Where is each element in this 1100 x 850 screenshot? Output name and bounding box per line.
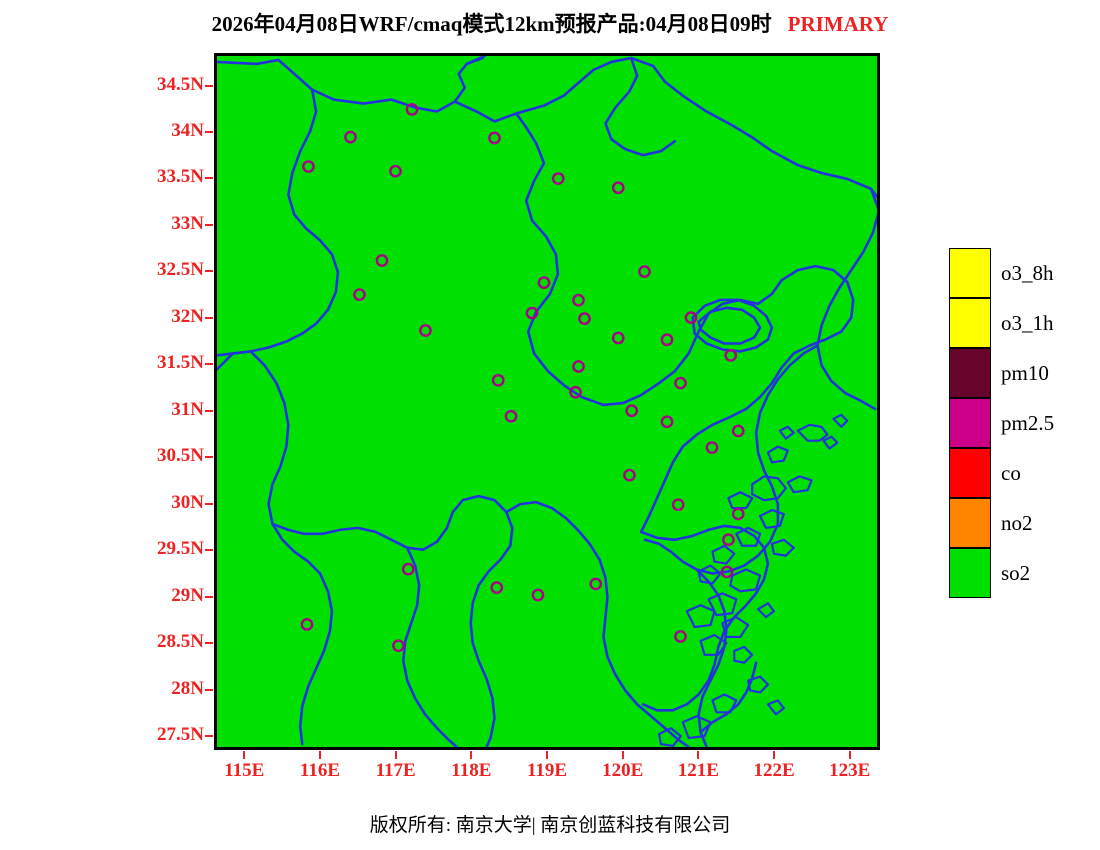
station-marker[interactable] xyxy=(579,313,589,323)
station-marker[interactable] xyxy=(733,509,743,519)
y-tick-mark xyxy=(205,456,213,458)
x-tick-mark xyxy=(243,751,245,759)
legend-label: o3_8h xyxy=(1001,263,1054,284)
title-main-text: 2026年04月08日WRF/cmaq模式12km预报产品:04月08日09时 xyxy=(212,12,772,36)
legend-item-pm10[interactable]: pm10 xyxy=(949,348,1054,398)
legend-label: no2 xyxy=(1001,513,1033,534)
forecast-map-page: 2026年04月08日WRF/cmaq模式12km预报产品:04月08日09时P… xyxy=(0,0,1100,850)
page-title: 2026年04月08日WRF/cmaq模式12km预报产品:04月08日09时P… xyxy=(0,8,1100,38)
legend-item-pm2-5[interactable]: pm2.5 xyxy=(949,398,1054,448)
x-tick-label: 122E xyxy=(734,760,814,782)
y-tick-mark xyxy=(205,131,213,133)
station-marker[interactable] xyxy=(403,564,413,574)
legend-label: co xyxy=(1001,463,1021,484)
x-tick-label: 117E xyxy=(356,760,436,782)
station-marker[interactable] xyxy=(675,378,685,388)
y-tick-label: 33.5N xyxy=(106,166,204,188)
y-tick-mark xyxy=(205,549,213,551)
legend-item-o3-1h[interactable]: o3_1h xyxy=(949,298,1054,348)
y-tick-mark xyxy=(205,410,213,412)
x-tick-mark xyxy=(546,751,548,759)
station-marker[interactable] xyxy=(345,132,355,142)
y-tick-mark xyxy=(205,503,213,505)
station-marker[interactable] xyxy=(613,333,623,343)
y-tick-label: 34.5N xyxy=(106,74,204,96)
legend-item-so2[interactable]: so2 xyxy=(949,548,1054,598)
station-marker[interactable] xyxy=(573,361,583,371)
y-tick-label: 32N xyxy=(106,306,204,328)
station-marker[interactable] xyxy=(662,417,672,427)
x-tick-label: 116E xyxy=(280,760,360,782)
legend-item-no2[interactable]: no2 xyxy=(949,498,1054,548)
station-marker[interactable] xyxy=(624,470,634,480)
y-tick-mark xyxy=(205,317,213,319)
x-tick-mark xyxy=(622,751,624,759)
station-marker[interactable] xyxy=(591,579,601,589)
legend-swatch xyxy=(949,348,991,398)
station-marker[interactable] xyxy=(673,500,683,510)
y-tick-mark xyxy=(205,85,213,87)
map-canvas xyxy=(217,56,877,747)
station-marker[interactable] xyxy=(723,535,733,545)
legend: o3_8ho3_1hpm10pm2.5cono2so2 xyxy=(949,248,1054,598)
station-marker[interactable] xyxy=(303,161,313,171)
legend-swatch xyxy=(949,448,991,498)
x-tick-label: 115E xyxy=(204,760,284,782)
legend-swatch xyxy=(949,498,991,548)
legend-label: o3_1h xyxy=(1001,313,1054,334)
map-plot-area[interactable] xyxy=(214,53,880,750)
y-tick-label: 27.5N xyxy=(106,724,204,746)
y-tick-label: 28.5N xyxy=(106,631,204,653)
x-tick-label: 118E xyxy=(431,760,511,782)
y-tick-label: 30.5N xyxy=(106,445,204,467)
x-tick-mark xyxy=(849,751,851,759)
y-tick-mark xyxy=(205,224,213,226)
station-marker[interactable] xyxy=(492,582,502,592)
legend-swatch xyxy=(949,398,991,448)
station-marker[interactable] xyxy=(627,406,637,416)
legend-label: so2 xyxy=(1001,563,1030,584)
province-boundaries xyxy=(217,56,877,747)
x-tick-label: 120E xyxy=(583,760,663,782)
x-tick-label: 121E xyxy=(658,760,738,782)
station-marker[interactable] xyxy=(390,166,400,176)
y-tick-label: 28N xyxy=(106,678,204,700)
x-tick-mark xyxy=(319,751,321,759)
legend-swatch xyxy=(949,548,991,598)
station-marker[interactable] xyxy=(686,312,696,322)
title-primary-tag: PRIMARY xyxy=(788,12,889,36)
legend-swatch xyxy=(949,298,991,348)
station-marker[interactable] xyxy=(302,619,312,629)
y-tick-label: 32.5N xyxy=(106,259,204,281)
x-tick-label: 123E xyxy=(810,760,890,782)
copyright-footer: 版权所有: 南京大学| 南京创蓝科技有限公司 xyxy=(0,810,1100,837)
station-marker[interactable] xyxy=(533,590,543,600)
station-marker-layer xyxy=(302,104,744,651)
y-tick-mark xyxy=(205,177,213,179)
station-marker[interactable] xyxy=(675,631,685,641)
station-marker[interactable] xyxy=(489,133,499,143)
station-marker[interactable] xyxy=(354,289,364,299)
station-marker[interactable] xyxy=(393,641,403,651)
y-tick-label: 29.5N xyxy=(106,538,204,560)
x-tick-mark xyxy=(773,751,775,759)
legend-label: pm10 xyxy=(1001,363,1049,384)
y-tick-label: 31N xyxy=(106,399,204,421)
x-tick-label: 119E xyxy=(507,760,587,782)
y-tick-label: 30N xyxy=(106,492,204,514)
station-marker[interactable] xyxy=(506,411,516,421)
y-tick-mark xyxy=(205,689,213,691)
legend-swatch xyxy=(949,248,991,298)
x-tick-mark xyxy=(697,751,699,759)
y-tick-mark xyxy=(205,642,213,644)
legend-item-co[interactable]: co xyxy=(949,448,1054,498)
y-tick-label: 33N xyxy=(106,213,204,235)
y-tick-mark xyxy=(205,363,213,365)
y-tick-mark xyxy=(205,270,213,272)
station-marker[interactable] xyxy=(707,442,717,452)
y-tick-label: 34N xyxy=(106,120,204,142)
x-tick-mark xyxy=(470,751,472,759)
station-marker[interactable] xyxy=(733,426,743,436)
station-marker[interactable] xyxy=(726,350,736,360)
y-tick-mark xyxy=(205,735,213,737)
station-marker[interactable] xyxy=(573,295,583,305)
station-marker[interactable] xyxy=(493,375,503,385)
y-tick-label: 29N xyxy=(106,585,204,607)
legend-label: pm2.5 xyxy=(1001,413,1054,434)
legend-item-o3-8h[interactable]: o3_8h xyxy=(949,248,1054,298)
y-tick-mark xyxy=(205,596,213,598)
station-marker[interactable] xyxy=(639,266,649,276)
station-marker[interactable] xyxy=(377,255,387,265)
station-marker[interactable] xyxy=(420,325,430,335)
y-tick-label: 31.5N xyxy=(106,352,204,374)
station-marker[interactable] xyxy=(553,173,563,183)
x-tick-mark xyxy=(395,751,397,759)
station-marker[interactable] xyxy=(539,277,549,287)
station-marker[interactable] xyxy=(613,183,623,193)
station-marker[interactable] xyxy=(662,335,672,345)
